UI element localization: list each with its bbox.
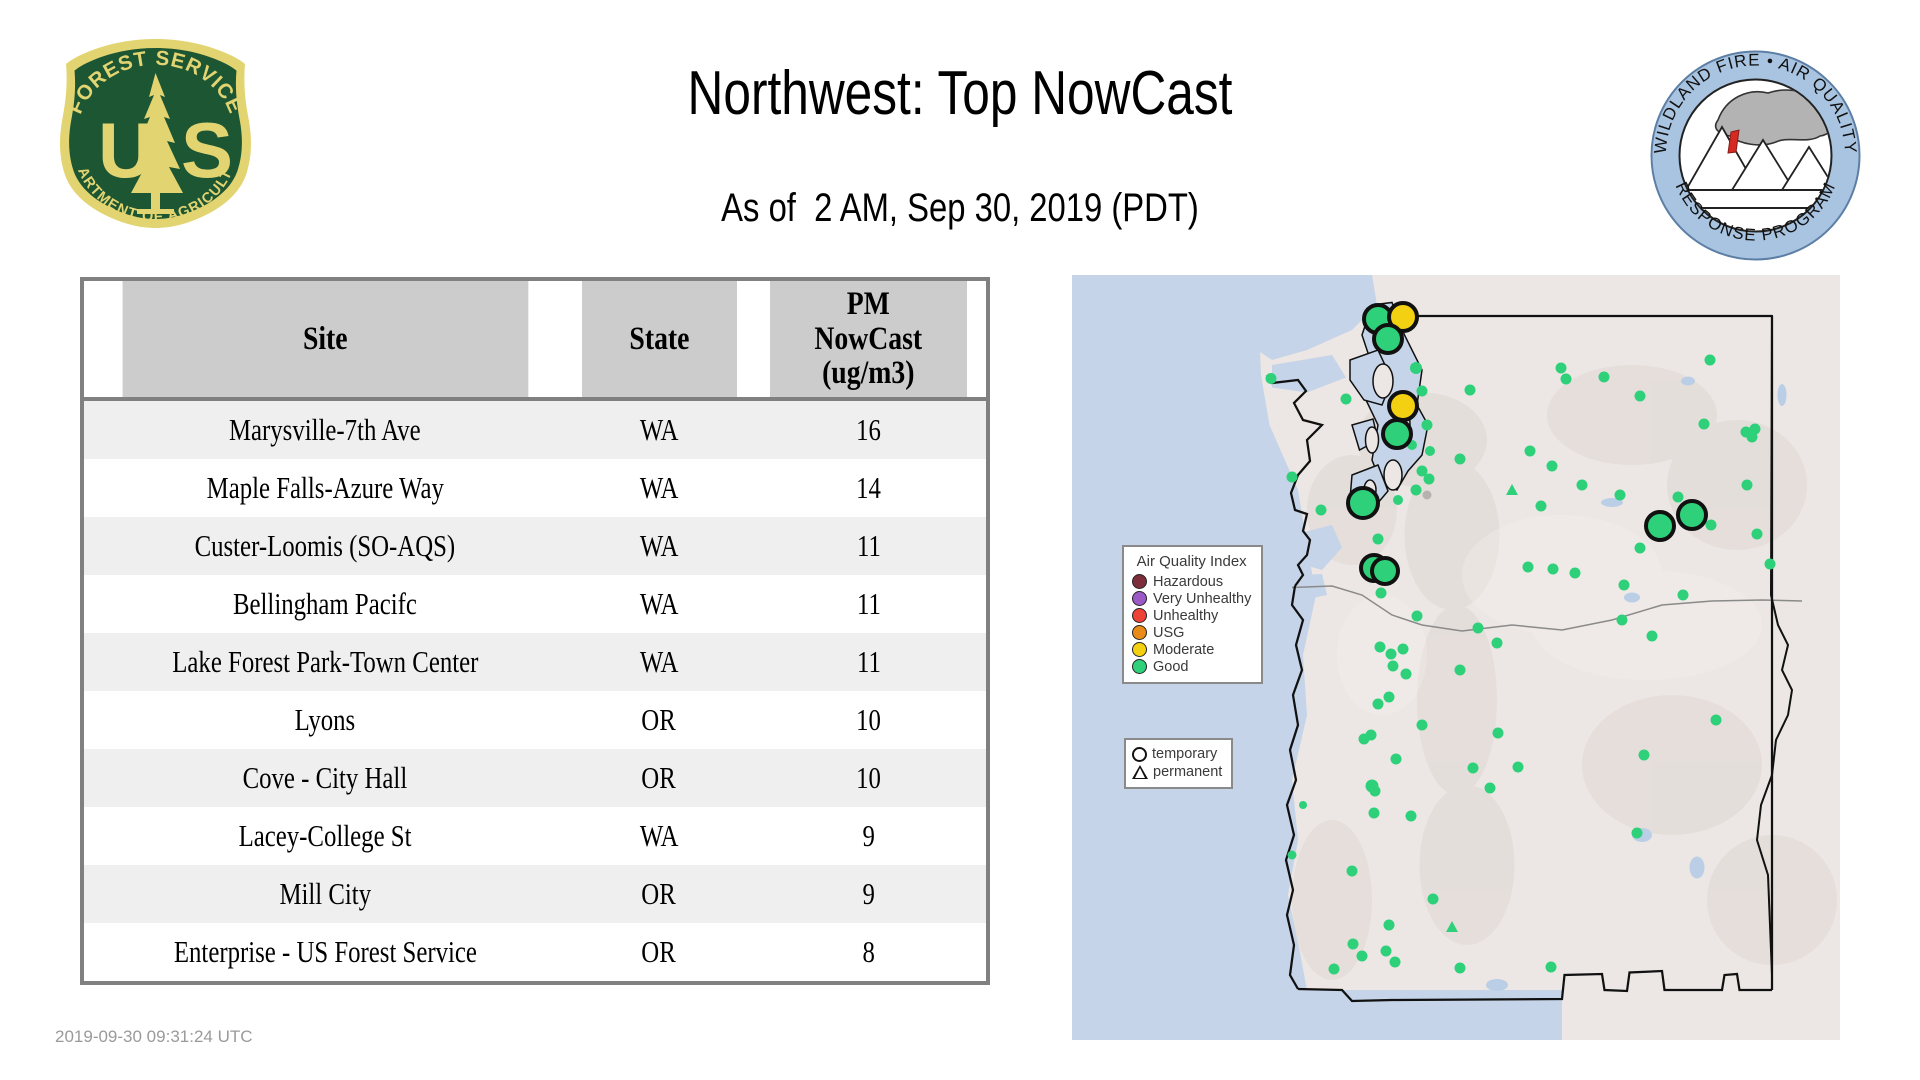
cell-site: Enterprise - US Forest Service [84,923,567,981]
cell-value: 11 [751,575,986,633]
table-row: Marysville-7th Ave WA 16 [84,399,986,459]
cell-value: 11 [751,517,986,575]
aqi-legend-item-unhealthy: Unhealthy [1132,607,1251,624]
type-legend-item-permanent: permanent [1132,763,1222,781]
aqi-legend: Air Quality Index Hazardous Very Unhealt… [1122,545,1263,684]
aqi-legend-item-usg: USG [1132,624,1251,641]
table-row: Maple Falls-Azure Way WA 14 [84,459,986,517]
cell-state: OR [567,691,752,749]
cell-value: 16 [751,399,986,459]
cell-state: WA [567,633,752,691]
cell-site: Marysville-7th Ave [84,399,567,459]
aqi-dot-moderate [1132,642,1147,657]
cell-site: Lake Forest Park-Town Center [84,633,567,691]
aqi-dot-unhealthy [1132,608,1147,623]
monitor-dot-inactive[interactable] [1423,491,1432,500]
table-row: Cove - City Hall OR 10 [84,749,986,807]
aqi-dot-very-unhealthy [1132,591,1147,606]
cell-state: OR [567,749,752,807]
column-header-pm-nowcast: PM NowCast (ug/m3) [770,281,967,399]
column-header-state: State [581,281,736,399]
table-row: Lacey-College St WA 9 [84,807,986,865]
type-legend-item-temporary: temporary [1132,745,1222,763]
cell-site: Maple Falls-Azure Way [84,459,567,517]
cell-value: 8 [751,923,986,981]
page-subtitle: As of 2 AM, Sep 30, 2019 (PDT) [173,185,1747,231]
table-row: Enterprise - US Forest Service OR 8 [84,923,986,981]
cell-value: 9 [751,807,986,865]
land-mass [1257,275,1840,1040]
cell-value: 10 [751,691,986,749]
column-header-site: Site [123,281,528,399]
aqi-legend-item-very-unhealthy: Very Unhealthy [1132,590,1251,607]
aqi-legend-title: Air Quality Index [1132,553,1251,570]
aqi-dot-good [1132,659,1147,674]
cell-state: WA [567,459,752,517]
cell-state: WA [567,807,752,865]
cell-state: WA [567,575,752,633]
cell-site: Lacey-College St [84,807,567,865]
cell-value: 14 [751,459,986,517]
cell-value: 10 [751,749,986,807]
table-row: Custer-Loomis (SO-AQS) WA 11 [84,517,986,575]
circle-icon [1132,747,1147,762]
cell-state: WA [567,517,752,575]
table-row: Lake Forest Park-Town Center WA 11 [84,633,986,691]
air-quality-monitor-map[interactable]: Air Quality Index Hazardous Very Unhealt… [1072,275,1840,1040]
aqi-legend-item-hazardous: Hazardous [1132,573,1251,590]
table-header-row: Site State PM NowCast (ug/m3) [84,281,986,399]
table-row: Bellingham Pacifc WA 11 [84,575,986,633]
nowcast-table: Site State PM NowCast (ug/m3) Marysville… [84,281,986,981]
cell-site: Cove - City Hall [84,749,567,807]
cell-state: WA [567,399,752,459]
aqi-dot-usg [1132,625,1147,640]
monitor-type-legend: temporary permanent [1124,738,1233,789]
cell-site: Mill City [84,865,567,923]
cell-site: Bellingham Pacifc [84,575,567,633]
cell-state: OR [567,865,752,923]
cell-site: Custer-Loomis (SO-AQS) [84,517,567,575]
table-row: Lyons OR 10 [84,691,986,749]
generation-timestamp: 2019-09-30 09:31:24 UTC [55,1027,253,1047]
cell-state: OR [567,923,752,981]
aqi-dot-hazardous [1132,574,1147,589]
page-title: Northwest: Top NowCast [192,58,1728,130]
nowcast-table-container: Site State PM NowCast (ug/m3) Marysville… [80,277,990,985]
cell-value: 11 [751,633,986,691]
cell-value: 9 [751,865,986,923]
aqi-legend-item-moderate: Moderate [1132,641,1251,658]
cell-site: Lyons [84,691,567,749]
table-row: Mill City OR 9 [84,865,986,923]
aqi-legend-item-good: Good [1132,658,1251,675]
triangle-icon [1132,765,1148,779]
